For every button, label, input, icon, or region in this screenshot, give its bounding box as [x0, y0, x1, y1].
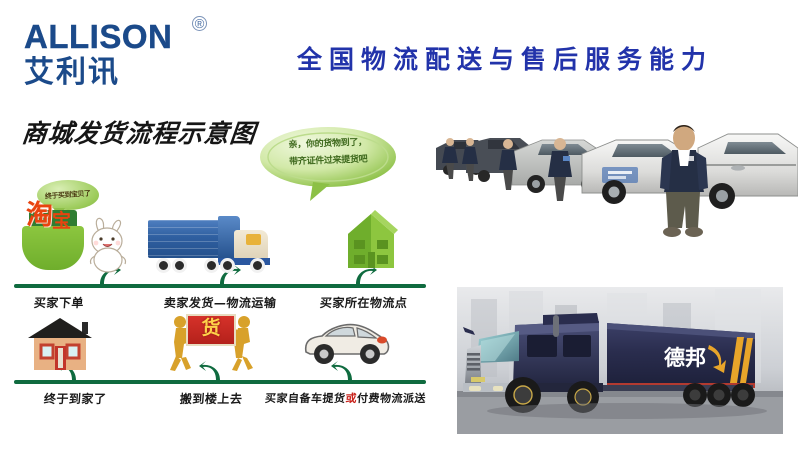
- basket-mark-bao: 宝: [52, 212, 71, 231]
- page-title: 全国物流配送与售后服务能力: [245, 40, 765, 76]
- company-logo: ALLISON ® 艾利讯: [24, 20, 214, 90]
- registered-trademark-icon: ®: [192, 16, 207, 31]
- step-label-arrived-home: 终于到家了: [43, 390, 107, 407]
- rabbit-mascot-icon: [82, 216, 134, 274]
- logo-chinese-name: 艾利讯: [24, 57, 214, 89]
- step-label-pickup-option: 买家自备车提货或付费物流派送: [264, 390, 426, 406]
- delivery-truck-icon: [148, 216, 272, 280]
- crate-mark-huo: 货: [188, 319, 234, 338]
- logistics-notice-bubble: 亲，你的货物到了， 带齐证件过来提货吧: [258, 126, 398, 188]
- diagram-title: 商城发货流程示意图: [20, 114, 258, 150]
- logistics-point-house-icon: [340, 208, 402, 272]
- shipping-flow-diagram: 商城发货流程示意图 终于买到宝贝了: [0, 108, 440, 418]
- buyer-home-icon: [22, 316, 98, 372]
- deppon-truck-photo: 德邦: [457, 287, 783, 434]
- movers-carrying-crate-icon: 货: [168, 308, 256, 374]
- step-label-station: 买家所在物流点: [319, 294, 408, 311]
- cargo-crate: 货: [186, 314, 236, 346]
- pickup-option-a: 买家自备车提货: [265, 392, 346, 405]
- truck-brand-text: 德邦: [664, 346, 706, 370]
- basket-mark-tao: 淘: [26, 202, 53, 229]
- pickup-option-or: 或: [345, 392, 357, 405]
- buyer-car-icon: [300, 310, 392, 372]
- logo-wordmark: ALLISON: [24, 20, 214, 53]
- step-label-move-upstairs: 搬到楼上去: [179, 390, 243, 407]
- shopping-basket-icon: 淘 宝: [22, 208, 84, 270]
- slide-root: ALLISON ® 艾利讯 全国物流配送与售后服务能力 商城发货流程示意图: [0, 0, 800, 450]
- step-label-order: 买家下单: [33, 294, 84, 311]
- pickup-option-b: 付费物流派送: [357, 392, 427, 405]
- service-fleet-photo: [432, 112, 798, 270]
